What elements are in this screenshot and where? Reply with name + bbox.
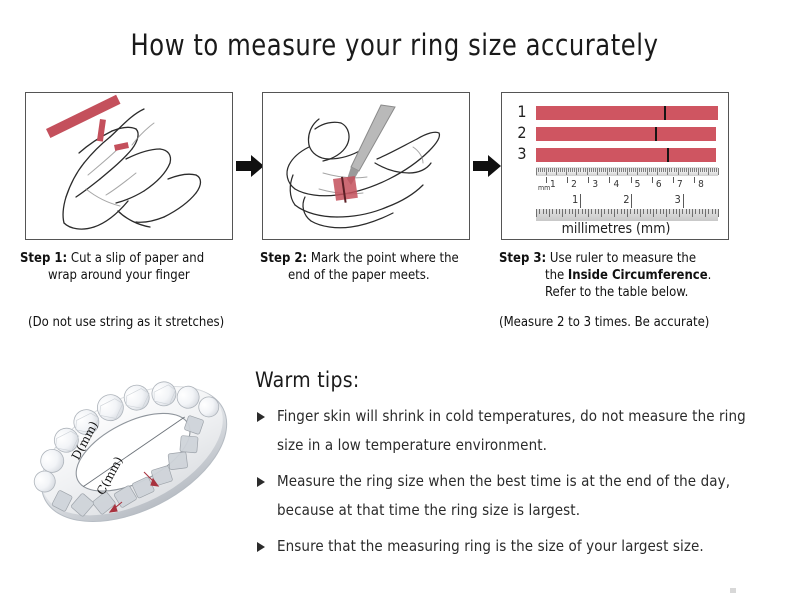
cm-label-7: 7 [677,179,683,190]
step-2-line1: Mark the point where the [307,251,459,266]
step-1-caption: Step 1: Cut a slip of paper and wrap aro… [20,250,235,284]
step-3-line2: the Inside Circumference. [499,267,749,284]
pen-shape [347,105,395,185]
measured-strip-1: 1 [514,105,718,122]
marked-paper-shape [333,176,358,203]
step-arrow-1-icon [236,155,264,177]
strip-number-3: 3 [514,145,530,163]
tip-text-2: Measure the ring size when the best time… [277,472,730,519]
step-arrow-2-icon [473,155,501,177]
cm-label-1: 1 [550,179,556,190]
ring-photo [18,352,250,557]
strip-tick-2 [655,127,657,141]
step-3-caption: Step 3: Use ruler to measure the the Ins… [499,250,749,301]
tip-text-1: Finger skin will shrink in cold temperat… [277,407,746,454]
tip-item-3: Ensure that the measuring ring is the si… [255,532,755,561]
step-3-line2-post: . [708,268,712,283]
step-3-line3: Refer to the table below. [499,284,749,301]
strip-tick-1 [664,106,666,120]
diamond-eternity-ring-illustration [18,352,250,557]
corner-artifact [730,588,736,593]
step-3-label: Step 3: [499,251,546,266]
step-3-line2-pre: the [545,268,568,283]
ruler-graphic: 12345678 mm 123 [536,167,718,221]
triangle-bullet-icon [257,542,265,552]
tip-item-1: Finger skin will shrink in cold temperat… [255,402,755,460]
triangle-bullet-icon [257,477,265,487]
step-1-line1: Cut a slip of paper and [67,251,204,266]
step-1-label: Step 1: [20,251,67,266]
strip-number-1: 1 [514,103,530,121]
cm-label-2: 2 [571,179,577,190]
strip-number-2: 2 [514,124,530,142]
hand-marking-paper-illustration [263,93,469,239]
inch-label-1: 1 [572,194,578,205]
tip-text-3: Ensure that the measuring ring is the si… [277,537,704,555]
measured-strip-2: 2 [514,126,718,143]
inside-circumference-emphasis: Inside Circumference [568,268,708,283]
measured-strip-3: 3 [514,147,718,164]
triangle-bullet-icon [257,412,265,422]
step-2-image-panel [262,92,470,240]
step-3-image-panel: 1 2 3 12345678 mm 123 [501,92,729,240]
inch-label-2: 2 [623,194,629,205]
step-3-line1: Use ruler to measure the [546,251,696,266]
unit-caption: millimetres (mm) [502,221,729,237]
inch-label-3: 3 [675,194,681,205]
step-2-line2: end of the paper meets. [260,267,475,284]
mm-unit-label: mm [538,183,550,194]
step-2-caption: Step 2: Mark the point where the end of … [260,250,475,284]
step-2-label: Step 2: [260,251,307,266]
warm-tips-list: Finger skin will shrink in cold temperat… [255,402,755,568]
paper-slip-shape [46,95,129,151]
warm-tips-heading: Warm tips: [255,368,360,392]
cm-label-6: 6 [656,179,662,190]
step-1-line2: wrap around your finger [20,267,235,284]
cm-label-3: 3 [592,179,598,190]
tip-item-2: Measure the ring size when the best time… [255,467,755,525]
hand-with-paper-slip-illustration [26,93,232,239]
cm-label-5: 5 [635,179,641,190]
strip-tick-3 [667,148,669,162]
step-3-note: (Measure 2 to 3 times. Be accurate) [499,315,709,330]
cm-label-8: 8 [698,179,704,190]
step-1-image-panel [25,92,233,240]
step-1-note: (Do not use string as it stretches) [28,315,224,330]
steps-row: 1 2 3 12345678 mm 123 [0,92,789,242]
page-title: How to measure your ring size accurately [28,28,762,62]
cm-label-4: 4 [613,179,619,190]
